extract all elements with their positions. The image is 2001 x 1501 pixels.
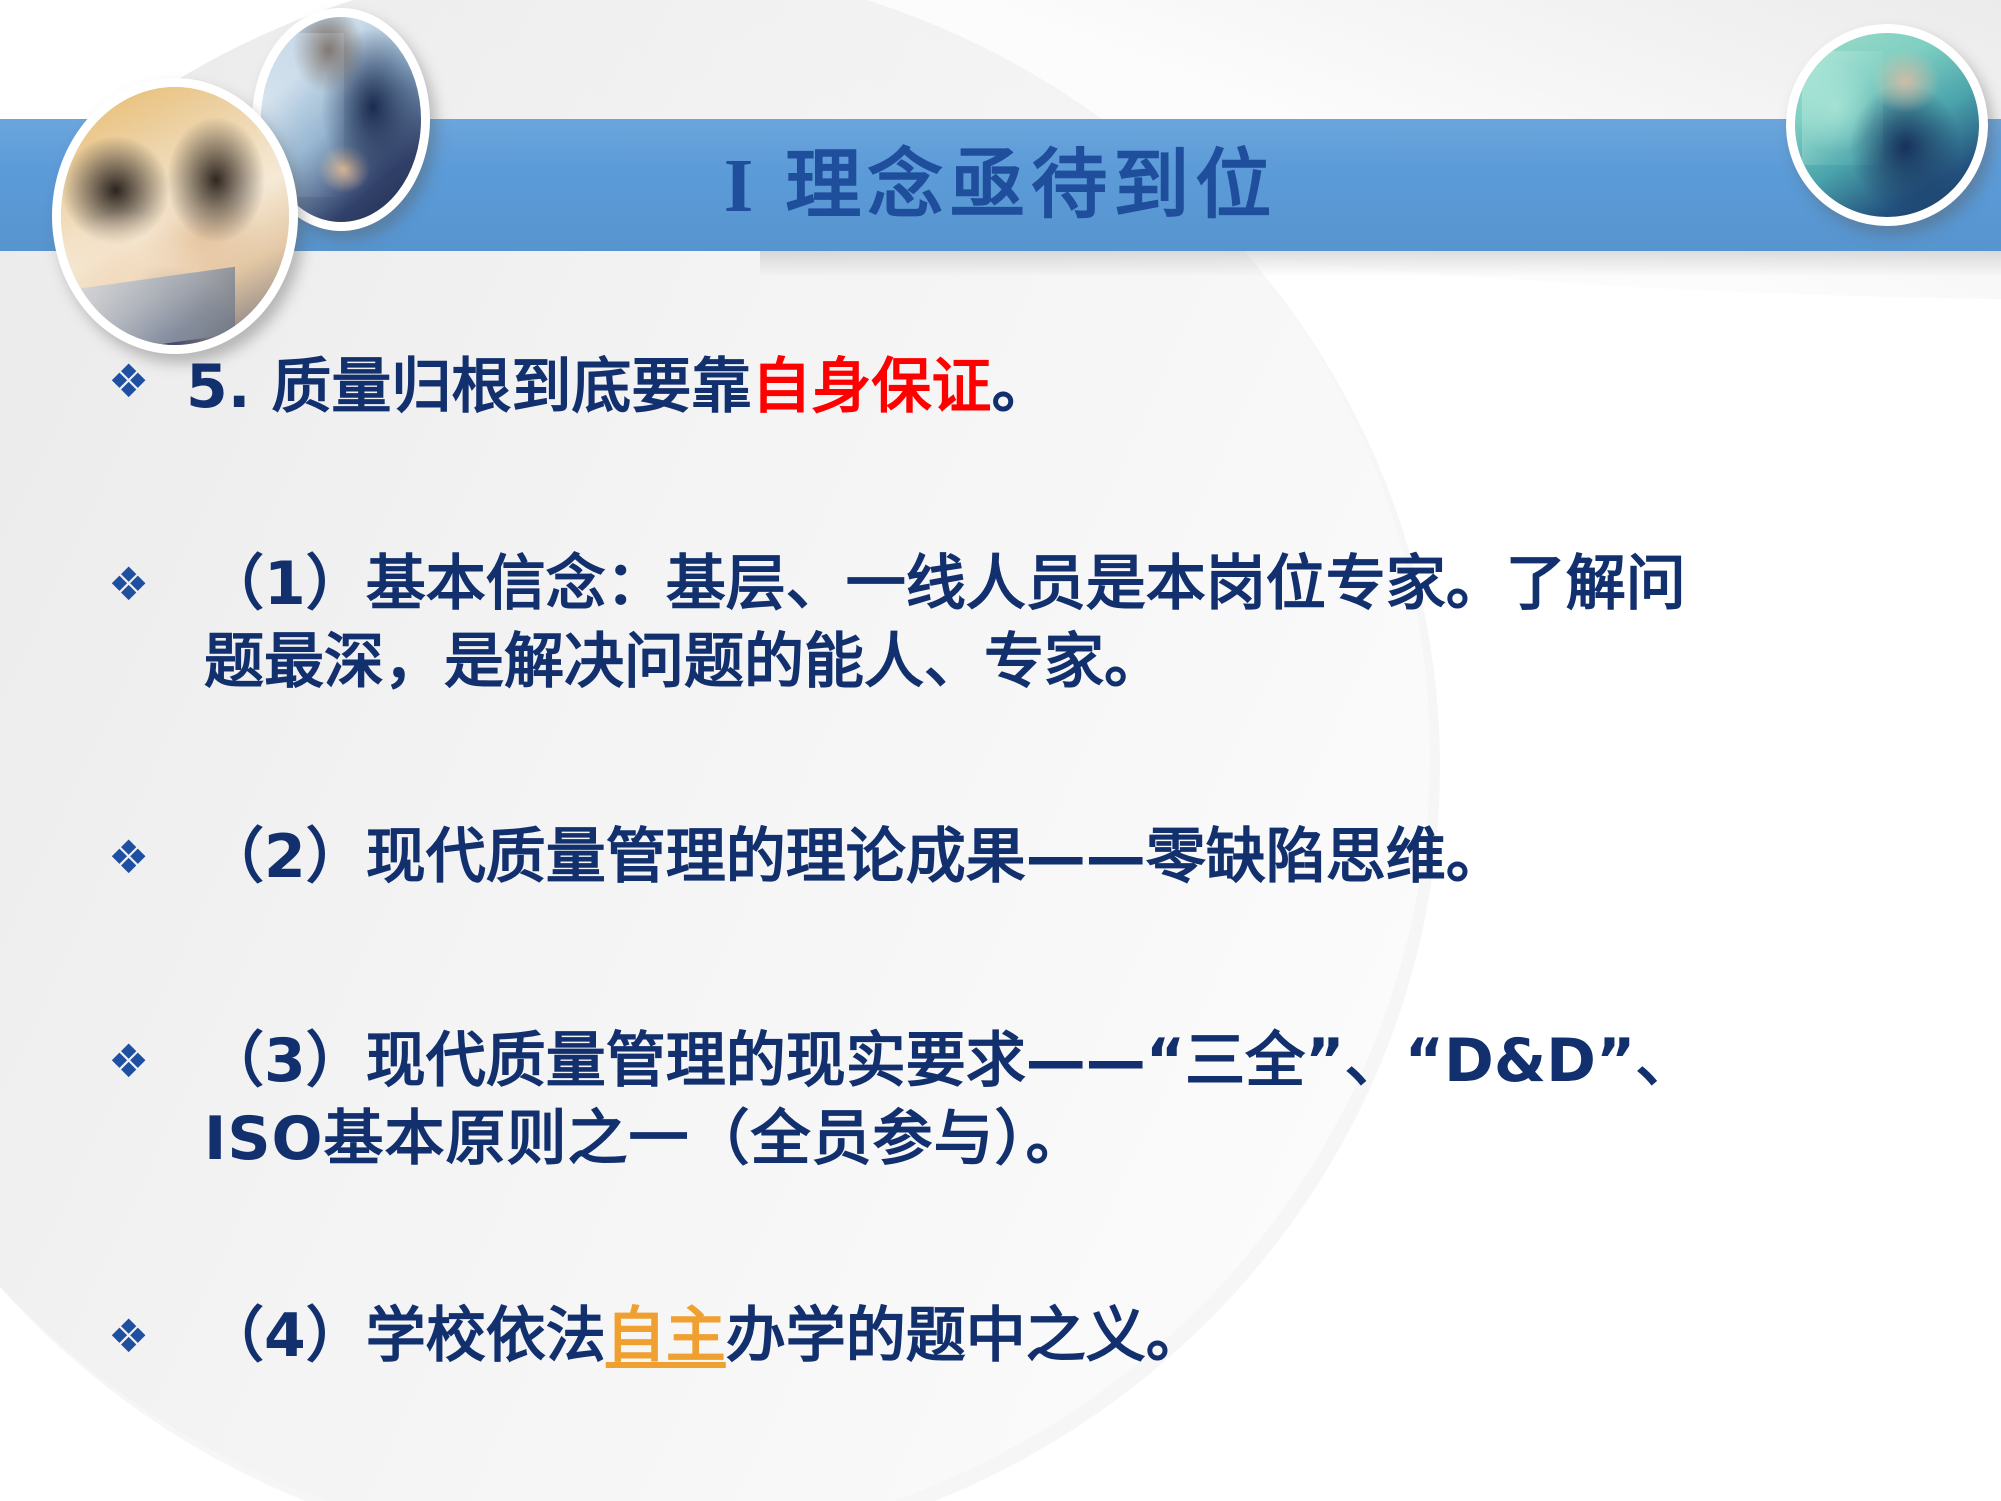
bullet-item-3: ❖ （3）现代质量管理的现实要求——“三全”、“D&D”、ISO基本原则之一（全… — [108, 1022, 1968, 1178]
bullet-item-5: ❖ 5. 质量归根到底要靠自身保证。 — [108, 348, 1908, 426]
bullet-item-5-text: 5. 质量归根到底要靠自身保证。 — [186, 348, 1908, 426]
bullet-item-2: ❖ （2）现代质量管理的理论成果——零缺陷思维。 — [108, 818, 1948, 896]
bullet-item-3-text: （3）现代质量管理的现实要求——“三全”、“D&D”、ISO基本原则之一（全员参… — [186, 1022, 1968, 1178]
bullet-item-2-text: （2）现代质量管理的理论成果——零缺陷思维。 — [186, 818, 1948, 896]
bullet-5-lead: 5. 质量归根到底要靠 — [186, 352, 751, 422]
bullet-item-4: ❖ （4）学校依法自主办学的题中之义。 — [108, 1297, 1948, 1375]
bullet-4-lead: （4）学校依法 — [204, 1301, 606, 1371]
bullet-3-line-2: ISO基本原则之一（全员参与）。 — [204, 1104, 1087, 1174]
diamond-bullet-icon: ❖ — [108, 348, 186, 404]
diamond-bullet-icon: ❖ — [108, 1022, 186, 1084]
presentation-slide: I理念亟待到位 ❖ 5. 质量归根到底要靠自身保证。 ❖ （1）基本信念：基层、… — [0, 0, 2001, 1501]
bullet-item-1: ❖ （1）基本信念：基层、一线人员是本岗位专家。了解问题最深，是解决问题的能人、… — [108, 545, 1948, 701]
diamond-bullet-icon: ❖ — [108, 818, 186, 880]
bullet-item-1-text: （1）基本信念：基层、一线人员是本岗位专家。了解问题最深，是解决问题的能人、专家… — [186, 545, 1948, 701]
bullet-1-line-1: （1）基本信念：基层、一线人员是本岗位专家。了解问 — [204, 549, 1686, 619]
bullet-5-tail: 。 — [991, 352, 1051, 422]
diamond-bullet-icon: ❖ — [108, 545, 186, 607]
diamond-bullet-icon: ❖ — [108, 1297, 186, 1359]
bullet-item-4-text: （4）学校依法自主办学的题中之义。 — [186, 1297, 1948, 1375]
bullet-1-line-2: 题最深，是解决问题的能人、专家。 — [204, 627, 1164, 697]
bullet-4-highlight: 自主 — [606, 1301, 726, 1371]
bullet-3-line-1: （3）现代质量管理的现实要求——“三全”、“D&D”、 — [204, 1026, 1695, 1096]
slide-body: ❖ 5. 质量归根到底要靠自身保证。 ❖ （1）基本信念：基层、一线人员是本岗位… — [0, 0, 2001, 1501]
bullet-5-highlight: 自身保证 — [751, 352, 991, 422]
bullet-4-tail: 办学的题中之义。 — [726, 1301, 1206, 1371]
